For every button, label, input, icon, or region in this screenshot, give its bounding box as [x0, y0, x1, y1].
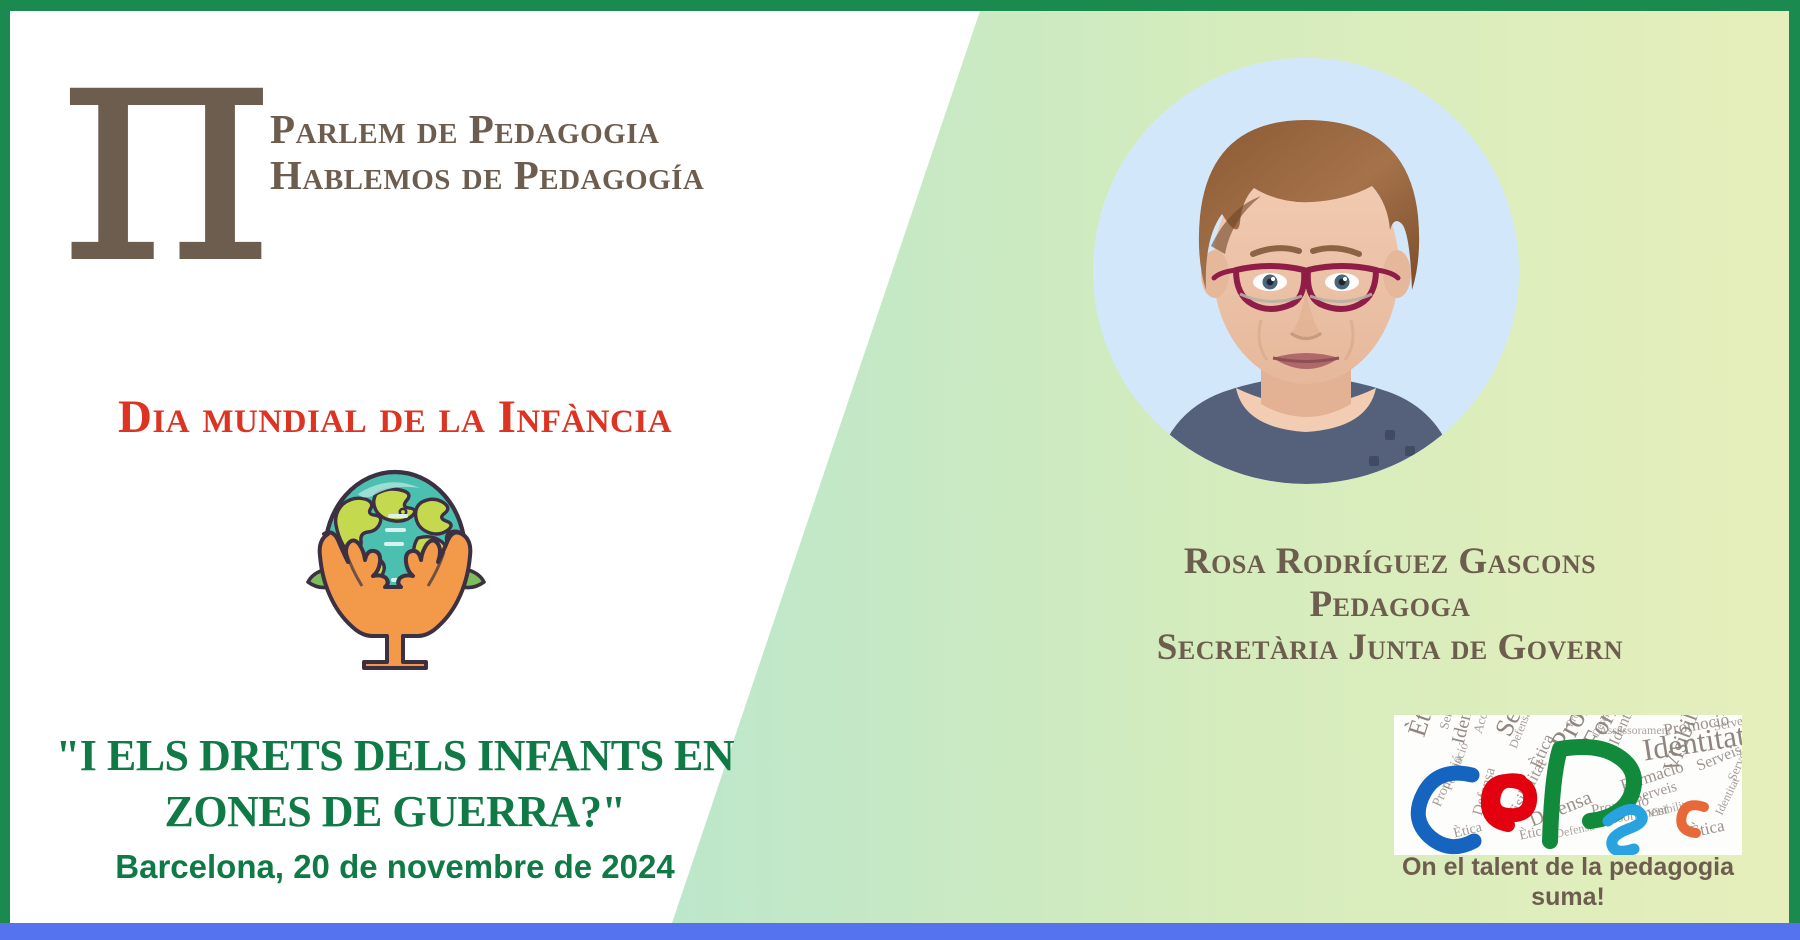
brand-name-spanish: Hablemos de Pedagogía: [270, 152, 740, 198]
event-title: Dia mundial de la Infància: [0, 390, 790, 444]
topic-title: "I ELS DRETS DELS INFANTS EN ZONES DE GU…: [0, 728, 790, 840]
border-left: [0, 0, 10, 929]
copec-logo: ÈticaServeisIdentitatAcompanyamentServei…: [1394, 715, 1742, 890]
pi-symbol-icon: π: [58, 0, 275, 310]
speaker-portrait: [1093, 58, 1519, 484]
speaker-info: Rosa Rodríguez Gascons Pedagoga Secretàr…: [980, 540, 1800, 669]
date-and-place: Barcelona, 20 de novembre de 2024: [0, 848, 790, 886]
border-right: [1789, 0, 1800, 929]
poster-canvas: π Parlem de Pedagogia Hablemos de Pedago…: [0, 0, 1800, 940]
brand-logo: π Parlem de Pedagogia Hablemos de Pedago…: [58, 28, 758, 278]
speaker-position: Secretària Junta de Govern: [980, 626, 1800, 669]
speaker-name: Rosa Rodríguez Gascons: [980, 540, 1800, 583]
brand-name-catalan: Parlem de Pedagogia: [270, 106, 740, 152]
topic-title-line-2: ZONES DE GUERRA?": [0, 784, 790, 840]
right-content-column: Rosa Rodríguez Gascons Pedagoga Secretàr…: [980, 0, 1800, 940]
topic-title-line-1: "I ELS DRETS DELS INFANTS EN: [0, 728, 790, 784]
border-bottom: [0, 923, 1800, 940]
border-top: [0, 0, 1800, 11]
left-content-column: π Parlem de Pedagogia Hablemos de Pedago…: [0, 0, 980, 940]
copec-wordcloud: ÈticaServeisIdentitatAcompanyamentServei…: [1394, 715, 1742, 855]
brand-name: Parlem de Pedagogia Hablemos de Pedagogí…: [270, 106, 740, 198]
copec-tagline: On el talent de la pedagogia suma!: [1394, 852, 1742, 912]
speaker-role: Pedagoga: [980, 583, 1800, 626]
hands-holding-globe-icon: [280, 460, 510, 670]
